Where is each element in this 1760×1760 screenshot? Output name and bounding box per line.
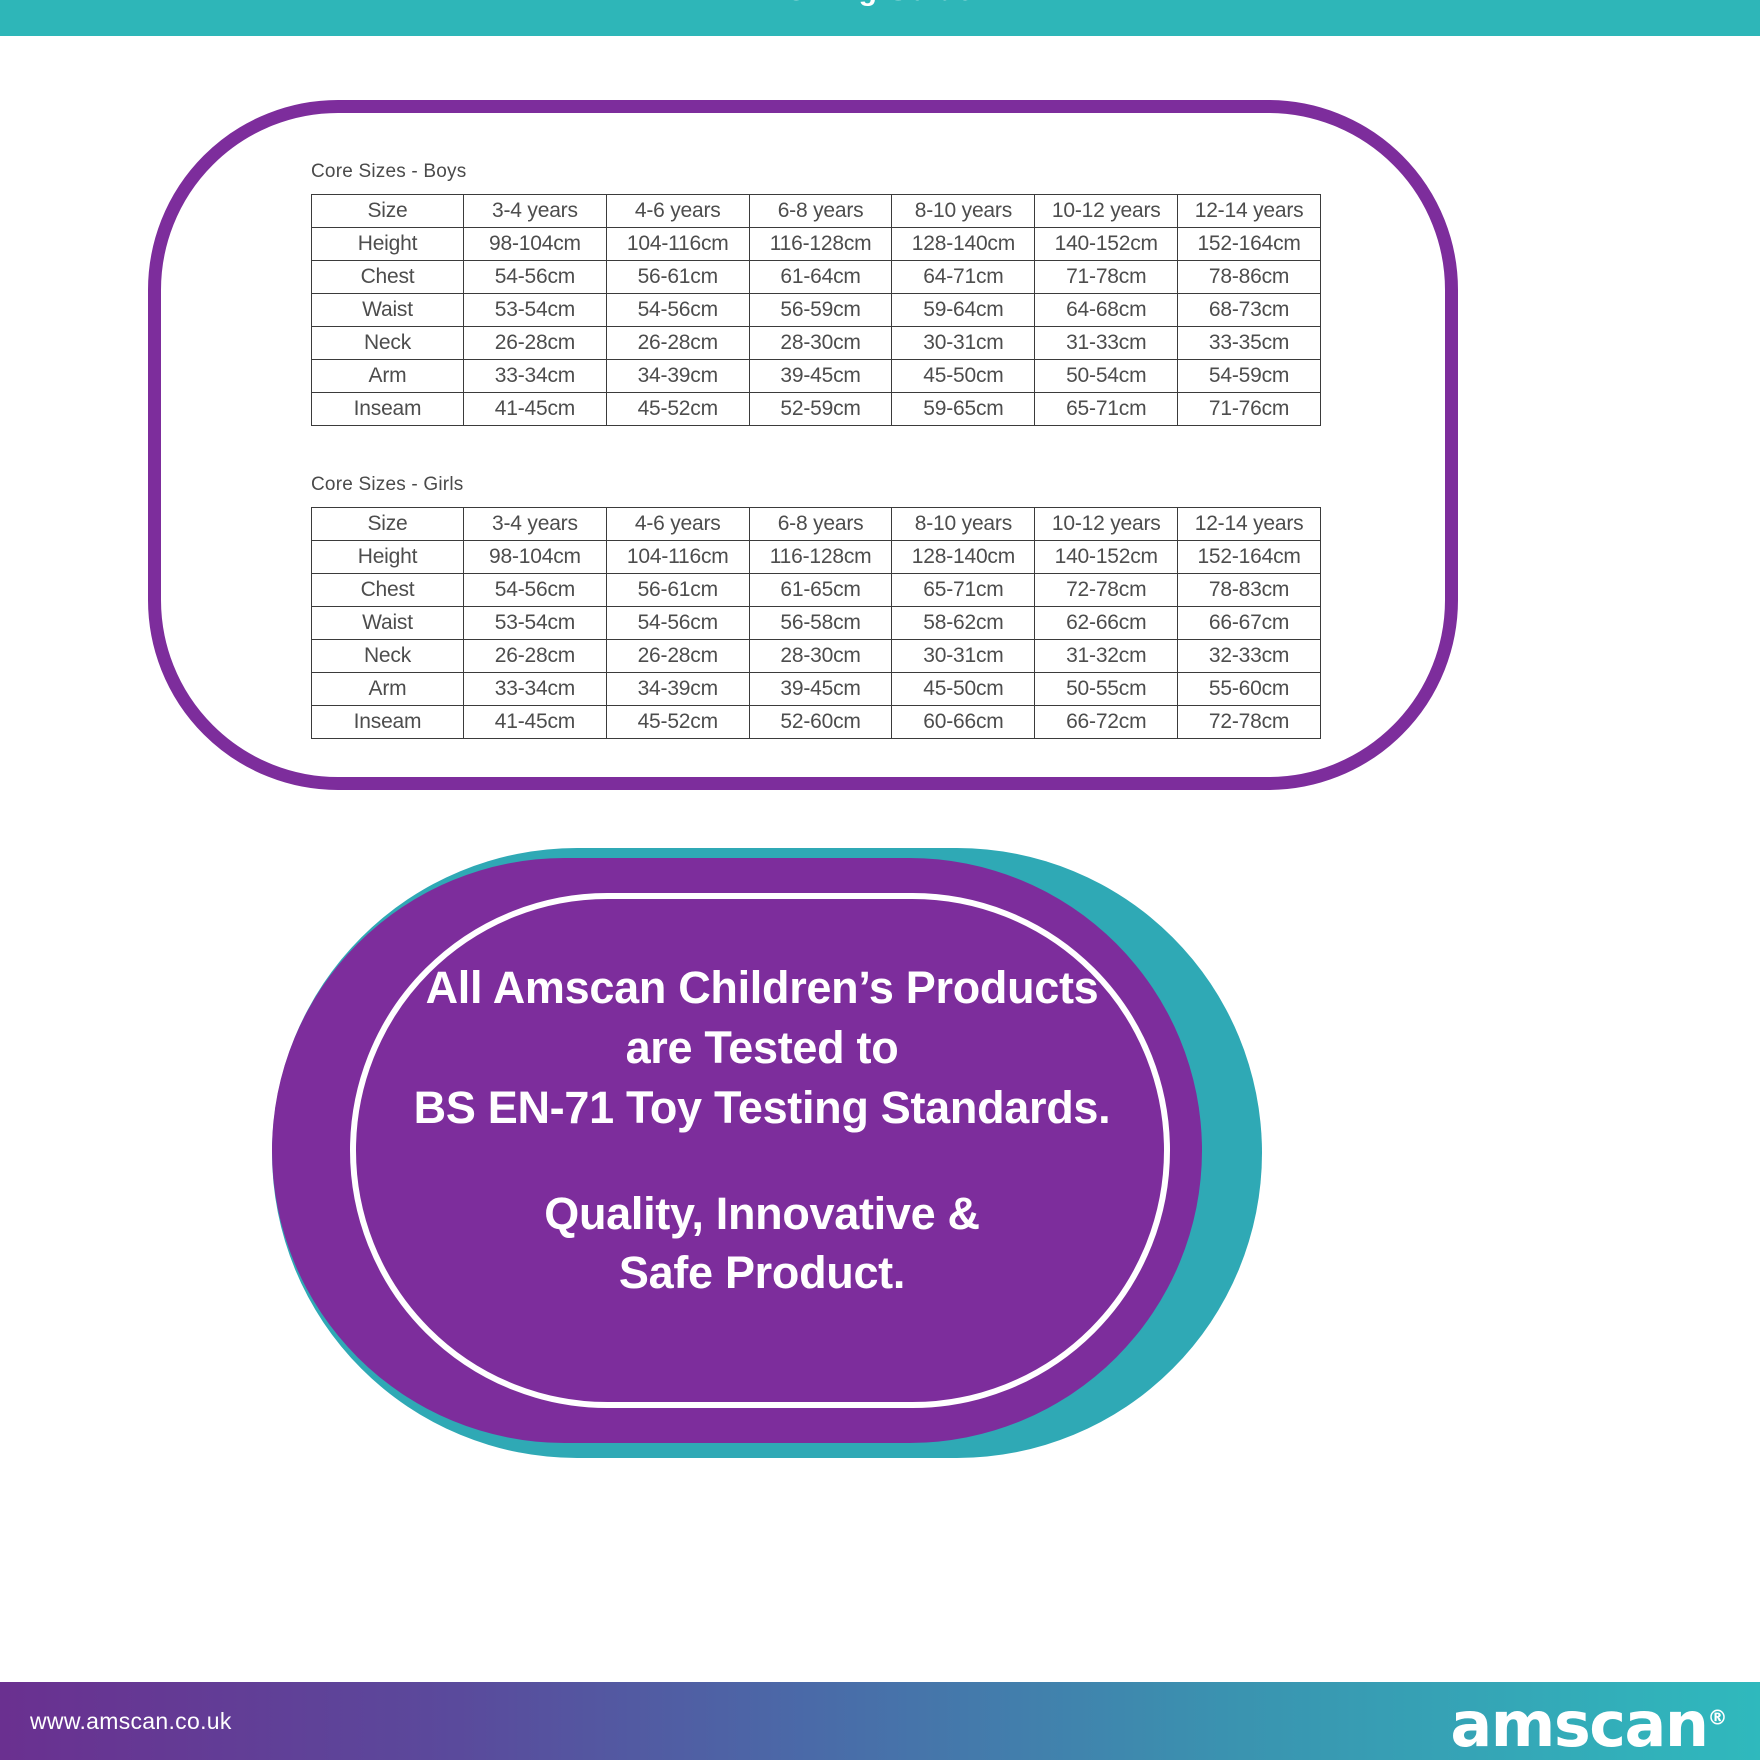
badge-line-4: Quality, Innovative & xyxy=(362,1184,1162,1244)
table-row: Size3-4 years4-6 years6-8 years8-10 year… xyxy=(312,195,1321,228)
table-row: Neck26-28cm26-28cm28-30cm30-31cm31-32cm3… xyxy=(312,640,1321,673)
table-cell: 39-45cm xyxy=(749,360,892,393)
table-row: Size3-4 years4-6 years6-8 years8-10 year… xyxy=(312,508,1321,541)
table-row-label: Neck xyxy=(312,640,464,673)
table-cell: 140-152cm xyxy=(1035,228,1178,261)
table-cell: 41-45cm xyxy=(464,393,607,426)
table-cell: 33-34cm xyxy=(464,673,607,706)
table-cell: 4-6 years xyxy=(606,508,749,541)
table-row: Chest54-56cm56-61cm61-65cm65-71cm72-78cm… xyxy=(312,574,1321,607)
table-cell: 65-71cm xyxy=(892,574,1035,607)
table-cell: 30-31cm xyxy=(892,640,1035,673)
table-cell: 12-14 years xyxy=(1178,508,1321,541)
table-row-label: Inseam xyxy=(312,393,464,426)
table-cell: 98-104cm xyxy=(464,541,607,574)
table-cell: 34-39cm xyxy=(606,360,749,393)
table-cell: 26-28cm xyxy=(464,640,607,673)
table-cell: 56-58cm xyxy=(749,607,892,640)
table-cell: 72-78cm xyxy=(1035,574,1178,607)
table-cell: 61-65cm xyxy=(749,574,892,607)
table-row-label: Size xyxy=(312,508,464,541)
table-row-label: Neck xyxy=(312,327,464,360)
table-cell: 66-67cm xyxy=(1178,607,1321,640)
table-cell: 3-4 years xyxy=(464,195,607,228)
table-cell: 26-28cm xyxy=(606,327,749,360)
table-row-label: Height xyxy=(312,228,464,261)
table-cell: 3-4 years xyxy=(464,508,607,541)
table-cell: 78-86cm xyxy=(1178,261,1321,294)
badge-line-spacer xyxy=(362,1138,1162,1184)
table-cell: 65-71cm xyxy=(1035,393,1178,426)
table-cell: 53-54cm xyxy=(464,294,607,327)
boys-table-body: Size3-4 years4-6 years6-8 years8-10 year… xyxy=(312,195,1321,426)
table-cell: 32-33cm xyxy=(1178,640,1321,673)
table-cell: 45-52cm xyxy=(606,706,749,739)
sizing-guide-page: Sizing Guide Core Sizes - Boys Size3-4 y… xyxy=(0,0,1760,1760)
badge-line-5: Safe Product. xyxy=(362,1243,1162,1303)
badge-line-3: BS EN-71 Toy Testing Standards. xyxy=(362,1078,1162,1138)
footer-bar: www.amscan.co.uk amscan® xyxy=(0,1682,1760,1760)
table-cell: 64-68cm xyxy=(1035,294,1178,327)
table-cell: 62-66cm xyxy=(1035,607,1178,640)
table-spacer xyxy=(311,426,1321,474)
table-row: Inseam41-45cm45-52cm52-60cm60-66cm66-72c… xyxy=(312,706,1321,739)
registered-trademark-icon: ® xyxy=(1708,1705,1727,1729)
table-cell: 66-72cm xyxy=(1035,706,1178,739)
table-row: Arm33-34cm34-39cm39-45cm45-50cm50-55cm55… xyxy=(312,673,1321,706)
table-cell: 33-35cm xyxy=(1178,327,1321,360)
table-row-label: Chest xyxy=(312,574,464,607)
table-cell: 52-60cm xyxy=(749,706,892,739)
table-cell: 72-78cm xyxy=(1178,706,1321,739)
table-cell: 41-45cm xyxy=(464,706,607,739)
table-cell: 26-28cm xyxy=(606,640,749,673)
girls-size-table: Size3-4 years4-6 years6-8 years8-10 year… xyxy=(311,507,1321,739)
table-cell: 39-45cm xyxy=(749,673,892,706)
table-cell: 28-30cm xyxy=(749,640,892,673)
table-cell: 33-34cm xyxy=(464,360,607,393)
boys-table-caption: Core Sizes - Boys xyxy=(311,161,1321,183)
table-cell: 98-104cm xyxy=(464,228,607,261)
badge-text-block: All Amscan Children’s Products are Teste… xyxy=(362,958,1162,1303)
table-cell: 61-64cm xyxy=(749,261,892,294)
table-cell: 31-32cm xyxy=(1035,640,1178,673)
table-row: Chest54-56cm56-61cm61-64cm64-71cm71-78cm… xyxy=(312,261,1321,294)
table-cell: 56-59cm xyxy=(749,294,892,327)
girls-table-body: Size3-4 years4-6 years6-8 years8-10 year… xyxy=(312,508,1321,739)
badge-line-2: are Tested to xyxy=(362,1018,1162,1078)
table-cell: 45-52cm xyxy=(606,393,749,426)
table-row: Neck26-28cm26-28cm28-30cm30-31cm31-33cm3… xyxy=(312,327,1321,360)
compliance-badge: All Amscan Children’s Products are Teste… xyxy=(272,848,1262,1458)
table-cell: 54-59cm xyxy=(1178,360,1321,393)
table-cell: 54-56cm xyxy=(464,574,607,607)
table-cell: 54-56cm xyxy=(606,294,749,327)
table-cell: 8-10 years xyxy=(892,195,1035,228)
table-cell: 28-30cm xyxy=(749,327,892,360)
table-cell: 59-64cm xyxy=(892,294,1035,327)
badge-line-1: All Amscan Children’s Products xyxy=(362,958,1162,1018)
table-cell: 50-55cm xyxy=(1035,673,1178,706)
table-cell: 31-33cm xyxy=(1035,327,1178,360)
table-row-label: Height xyxy=(312,541,464,574)
table-cell: 60-66cm xyxy=(892,706,1035,739)
table-cell: 45-50cm xyxy=(892,360,1035,393)
table-cell: 50-54cm xyxy=(1035,360,1178,393)
table-cell: 30-31cm xyxy=(892,327,1035,360)
amscan-logo-text: amscan xyxy=(1450,1688,1707,1760)
table-cell: 116-128cm xyxy=(749,228,892,261)
table-cell: 71-76cm xyxy=(1178,393,1321,426)
table-row: Height98-104cm104-116cm116-128cm128-140c… xyxy=(312,541,1321,574)
table-cell: 10-12 years xyxy=(1035,508,1178,541)
table-cell: 68-73cm xyxy=(1178,294,1321,327)
table-cell: 6-8 years xyxy=(749,508,892,541)
table-cell: 64-71cm xyxy=(892,261,1035,294)
table-cell: 26-28cm xyxy=(464,327,607,360)
table-row: Height98-104cm104-116cm116-128cm128-140c… xyxy=(312,228,1321,261)
table-row-label: Size xyxy=(312,195,464,228)
table-cell: 12-14 years xyxy=(1178,195,1321,228)
table-cell: 152-164cm xyxy=(1178,541,1321,574)
table-cell: 78-83cm xyxy=(1178,574,1321,607)
amscan-logo: amscan® xyxy=(1450,1688,1726,1760)
table-cell: 128-140cm xyxy=(892,541,1035,574)
page-title: Sizing Guide xyxy=(0,0,1760,8)
table-cell: 6-8 years xyxy=(749,195,892,228)
table-cell: 56-61cm xyxy=(606,261,749,294)
table-row-label: Arm xyxy=(312,673,464,706)
table-cell: 54-56cm xyxy=(464,261,607,294)
table-cell: 54-56cm xyxy=(606,607,749,640)
table-row-label: Waist xyxy=(312,607,464,640)
table-cell: 8-10 years xyxy=(892,508,1035,541)
table-cell: 55-60cm xyxy=(1178,673,1321,706)
table-row: Arm33-34cm34-39cm39-45cm45-50cm50-54cm54… xyxy=(312,360,1321,393)
table-cell: 10-12 years xyxy=(1035,195,1178,228)
table-cell: 152-164cm xyxy=(1178,228,1321,261)
table-cell: 4-6 years xyxy=(606,195,749,228)
table-row: Waist53-54cm54-56cm56-58cm58-62cm62-66cm… xyxy=(312,607,1321,640)
table-row-label: Arm xyxy=(312,360,464,393)
table-row-label: Inseam xyxy=(312,706,464,739)
table-cell: 128-140cm xyxy=(892,228,1035,261)
girls-table-caption: Core Sizes - Girls xyxy=(311,474,1321,496)
table-cell: 59-65cm xyxy=(892,393,1035,426)
table-cell: 71-78cm xyxy=(1035,261,1178,294)
table-cell: 58-62cm xyxy=(892,607,1035,640)
table-cell: 104-116cm xyxy=(606,228,749,261)
table-cell: 53-54cm xyxy=(464,607,607,640)
table-cell: 104-116cm xyxy=(606,541,749,574)
boys-size-table: Size3-4 years4-6 years6-8 years8-10 year… xyxy=(311,194,1321,426)
size-tables-panel: Core Sizes - Boys Size3-4 years4-6 years… xyxy=(148,100,1458,790)
table-cell: 52-59cm xyxy=(749,393,892,426)
table-cell: 34-39cm xyxy=(606,673,749,706)
table-row: Waist53-54cm54-56cm56-59cm59-64cm64-68cm… xyxy=(312,294,1321,327)
table-cell: 56-61cm xyxy=(606,574,749,607)
header-bar: Sizing Guide xyxy=(0,0,1760,36)
table-row-label: Waist xyxy=(312,294,464,327)
website-url-link[interactable]: www.amscan.co.uk xyxy=(30,1708,232,1735)
table-cell: 116-128cm xyxy=(749,541,892,574)
table-row-label: Chest xyxy=(312,261,464,294)
table-cell: 45-50cm xyxy=(892,673,1035,706)
table-row: Inseam41-45cm45-52cm52-59cm59-65cm65-71c… xyxy=(312,393,1321,426)
table-cell: 140-152cm xyxy=(1035,541,1178,574)
